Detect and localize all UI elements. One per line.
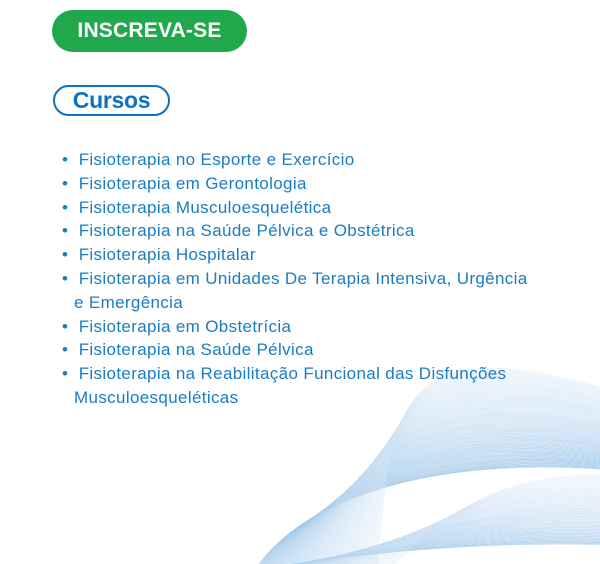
bullet-icon: • — [62, 340, 79, 359]
bullet-icon: • — [62, 221, 79, 240]
bullet-icon: • — [62, 364, 79, 383]
course-label: Fisioterapia na Saúde Pélvica e Obstétri… — [79, 221, 415, 240]
course-list-item: • Fisioterapia Musculoesquelética — [62, 196, 532, 220]
bullet-icon: • — [62, 317, 79, 336]
course-list-item: • Fisioterapia em Unidades De Terapia In… — [62, 267, 532, 315]
course-label: Fisioterapia no Esporte e Exercício — [79, 150, 355, 169]
course-label: Fisioterapia em Obstetrícia — [79, 317, 292, 336]
cursos-badge-label: Cursos — [55, 87, 168, 114]
bullet-icon: • — [62, 245, 79, 264]
course-list: • Fisioterapia no Esporte e Exercício• F… — [62, 148, 532, 410]
course-label: Fisioterapia em Gerontologia — [79, 174, 307, 193]
course-label: Fisioterapia Hospitalar — [79, 245, 256, 264]
subscribe-button[interactable]: INSCREVA-SE — [52, 10, 247, 52]
course-label: Fisioterapia Musculoesquelética — [79, 198, 332, 217]
course-list-item: • Fisioterapia na Saúde Pélvica — [62, 338, 532, 362]
course-label: Fisioterapia na Reabilitação Funcional d… — [74, 364, 506, 407]
course-list-item: • Fisioterapia Hospitalar — [62, 243, 532, 267]
bullet-icon: • — [62, 150, 79, 169]
course-list-item: • Fisioterapia em Gerontologia — [62, 172, 532, 196]
course-list-item: • Fisioterapia na Saúde Pélvica e Obstét… — [62, 219, 532, 243]
course-list-item: • Fisioterapia na Reabilitação Funcional… — [62, 362, 532, 410]
bullet-icon: • — [62, 174, 79, 193]
bullet-icon: • — [62, 269, 79, 288]
course-label: Fisioterapia na Saúde Pélvica — [79, 340, 314, 359]
cursos-section-badge: Cursos — [53, 85, 170, 116]
course-list-item: • Fisioterapia no Esporte e Exercício — [62, 148, 532, 172]
bullet-icon: • — [62, 198, 79, 217]
course-label: Fisioterapia em Unidades De Terapia Inte… — [74, 269, 528, 312]
course-list-item: • Fisioterapia em Obstetrícia — [62, 315, 532, 339]
